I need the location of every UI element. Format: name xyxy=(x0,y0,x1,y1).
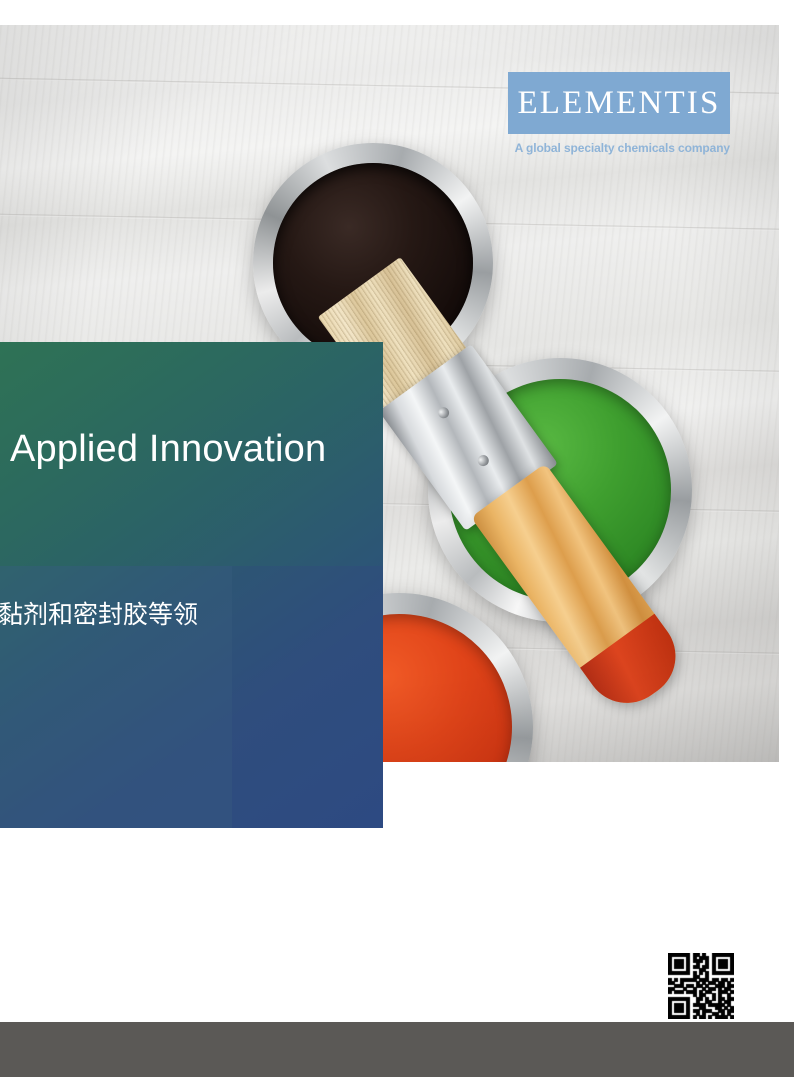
ferrule-rivet xyxy=(436,405,451,420)
qr-code-image xyxy=(668,953,734,1019)
subtitle-chinese: 黏剂和密封胶等领 xyxy=(0,597,258,633)
logo-box: ELEMENTIS xyxy=(508,72,730,134)
cover-page: Applied Innovation 黏剂和密封胶等领 ELEMENTIS A … xyxy=(0,0,794,1077)
qr-code[interactable] xyxy=(668,953,734,1019)
logo-wordmark: ELEMENTIS xyxy=(517,87,720,120)
page-title: Applied Innovation xyxy=(10,424,390,474)
ferrule-rivet xyxy=(476,453,491,468)
brand-logo: ELEMENTIS A global specialty chemicals c… xyxy=(508,72,730,155)
logo-tagline: A global specialty chemicals company xyxy=(508,141,730,155)
footer-bar xyxy=(0,1022,794,1077)
